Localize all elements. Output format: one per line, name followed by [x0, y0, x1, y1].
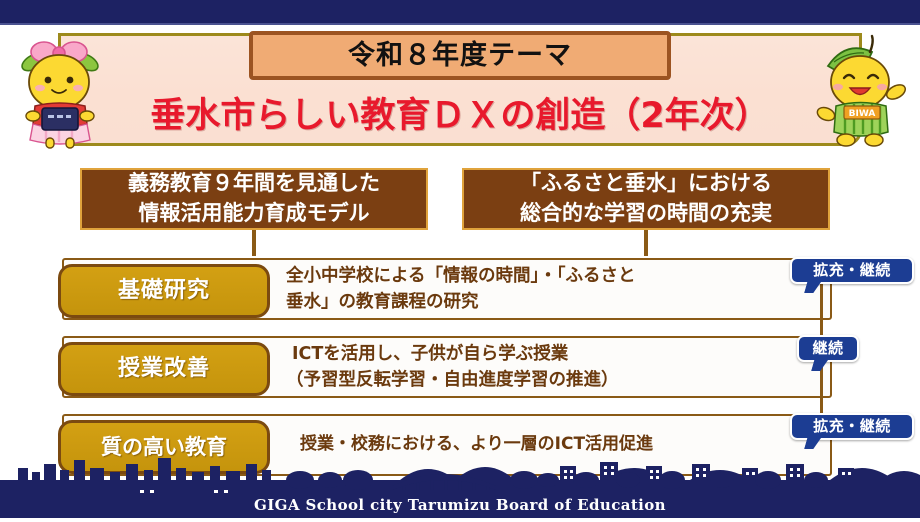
row-lesson-improvement: 授業改善 ICTを活用し、子供が自ら学ぶ授業 （予習型反転学習・自由進度学習の推…: [62, 336, 832, 398]
row2-line1: ICTを活用し、子供が自ら学ぶ授業: [286, 341, 568, 367]
footer-skyline: GIGA School city Tarumizu Board of Educa…: [0, 446, 920, 518]
status-badge-continue: 継続: [797, 335, 859, 362]
row-body-lesson-improvement: ICTを活用し、子供が自ら学ぶ授業 （予習型反転学習・自由進度学習の推進）: [286, 338, 820, 396]
page-title-text: 垂水市らしい教育ＤＸの創造（2年次）: [150, 99, 769, 134]
row2-line2: （予習型反転学習・自由進度学習の推進）: [286, 367, 619, 393]
theme-chip-label: 令和８年度テーマ: [348, 42, 572, 69]
page-title: 垂水市らしい教育ＤＸの創造（2年次）: [58, 92, 862, 140]
footer-caption-text: GIGA School city Tarumizu Board of Educa…: [254, 496, 666, 514]
footer-caption: GIGA School city Tarumizu Board of Educa…: [0, 495, 920, 514]
biwa-loquat-mascot-icon: BIWA: [808, 30, 916, 150]
row-label-lesson-improvement: 授業改善: [58, 342, 270, 396]
connector-stub-left: [252, 230, 256, 256]
slide-canvas: 令和８年度テーマ 垂水市らしい教育ＤＸの創造（2年次）: [0, 0, 920, 518]
badge-text: 継続: [812, 341, 843, 356]
pillar-right: 「ふるさと垂水」における 総合的な学習の時間の充実: [462, 168, 830, 230]
status-badge-expand-continue-2: 拡充・継続: [790, 413, 914, 440]
status-badge-expand-continue-1: 拡充・継続: [790, 257, 914, 284]
row1-line1: 全小中学校による「情報の時間」・「ふるさと: [286, 263, 635, 289]
row-label-text: 授業改善: [118, 358, 210, 380]
pillar-left-line1: 義務教育９年間を見通した: [128, 169, 380, 199]
badge-connector-1: [820, 284, 823, 336]
row-label-text: 基礎研究: [118, 280, 210, 302]
svg-text:BIWA: BIWA: [849, 109, 876, 119]
pillar-right-line2: 総合的な学習の時間の充実: [520, 199, 772, 229]
row-body-basic-research: 全小中学校による「情報の時間」・「ふるさと 垂水」の教育課程の研究: [286, 260, 820, 318]
tarumizu-girl-mascot-icon: [8, 28, 112, 150]
top-navy-bar: [0, 0, 920, 23]
theme-chip: 令和８年度テーマ: [249, 31, 671, 80]
row1-line2: 垂水」の教育課程の研究: [286, 289, 479, 315]
connector-stub-right: [644, 230, 648, 256]
row-label-basic-research: 基礎研究: [58, 264, 270, 318]
pillar-left-line2: 情報活用能力育成モデル: [139, 199, 370, 229]
badge-text: 拡充・継続: [813, 263, 891, 278]
pillar-left: 義務教育９年間を見通した 情報活用能力育成モデル: [80, 168, 428, 230]
badge-text: 拡充・継続: [813, 419, 891, 434]
row-basic-research: 基礎研究 全小中学校による「情報の時間」・「ふるさと 垂水」の教育課程の研究: [62, 258, 832, 320]
pillar-right-line1: 「ふるさと垂水」における: [520, 169, 772, 199]
